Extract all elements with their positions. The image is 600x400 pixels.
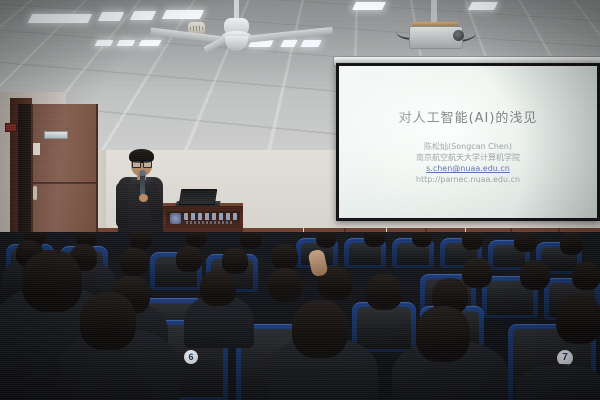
fluorescent-light-panel [300,40,321,47]
fluorescent-light-panel [28,14,92,23]
slide-email-link[interactable]: s.chen@nuaa.edu.cn [339,163,597,174]
lectern-university-subtitle [186,221,233,224]
audience-member-head [514,232,536,252]
audience-member-head [272,244,298,270]
projection-screen: 对人工智能(AI)的浅见 陈松灿(Songcan Chen) 南京航空航天大学计… [336,63,600,221]
audience-member-head [292,300,348,358]
audience-member-head [80,292,136,350]
lecture-hall-photo: 对人工智能(AI)的浅见 陈松灿(Songcan Chen) 南京航空航天大学计… [0,0,600,400]
ceiling-fan-rod [234,0,239,20]
fluorescent-light-panel [139,40,162,46]
audience-member-shoulders [516,364,600,400]
microphone-head-icon [139,170,146,176]
audience-member-head [416,306,470,362]
presenter-hand [139,194,148,202]
audience-member-head [366,274,402,310]
audience-member-head [200,270,236,306]
exit-sign-icon [5,123,17,132]
projector-lens-icon [453,30,464,41]
audience-member-head [556,294,600,344]
presenter-laptop-screen [179,189,218,205]
door-plate-sign [44,131,68,139]
slide-affiliation: 南京航空航天大学计算机学院 [339,152,597,163]
audience-member-head [560,232,583,255]
audience-member-head [462,232,483,250]
presenter-arm-left [116,182,128,228]
audience-member-head [22,250,82,312]
slide-presenter-name: 陈松灿(Songcan Chen) [339,141,597,152]
fluorescent-light-panel [95,40,114,46]
audience-seating-area: 6 7 [0,232,600,400]
audience-member-head [462,258,492,288]
handheld-microphone-icon [140,173,145,195]
audience-member-head [120,248,148,276]
projection-screen-surface: 对人工智能(AI)的浅见 陈松灿(Songcan Chen) 南京航空航天大学计… [339,66,597,218]
slide-title: 对人工智能(AI)的浅见 [339,107,597,126]
audience-member-head [240,232,262,249]
audience-member-head [186,232,207,247]
audience-member-head [412,232,432,247]
audience-member-head [176,246,202,272]
fluorescent-light-panel [352,2,386,10]
audience-member-head [520,260,550,290]
audience-member-head [222,248,248,274]
eyeglasses-icon [132,161,151,166]
audience-member-head [572,262,600,290]
fluorescent-light-panel [162,10,204,19]
fluorescent-light-panel [130,11,156,20]
door-handle[interactable] [33,186,37,200]
university-logo-icon [170,213,181,224]
fluorescent-light-panel [117,40,136,46]
fluorescent-light-panel [98,12,124,21]
seat-number-badge: 6 [184,350,198,364]
door-notice-tag [33,143,40,155]
audience-member-head [316,232,336,248]
audience-member-head [268,268,302,302]
lectern-university-name [184,213,237,220]
fluorescent-light-panel [468,2,498,10]
presentation-slide: 对人工智能(AI)的浅见 陈松灿(Songcan Chen) 南京航空航天大学计… [339,107,597,185]
slide-website-url: http://parnec.nuaa.edu.cn [339,174,597,185]
audience-member-head [364,232,385,247]
